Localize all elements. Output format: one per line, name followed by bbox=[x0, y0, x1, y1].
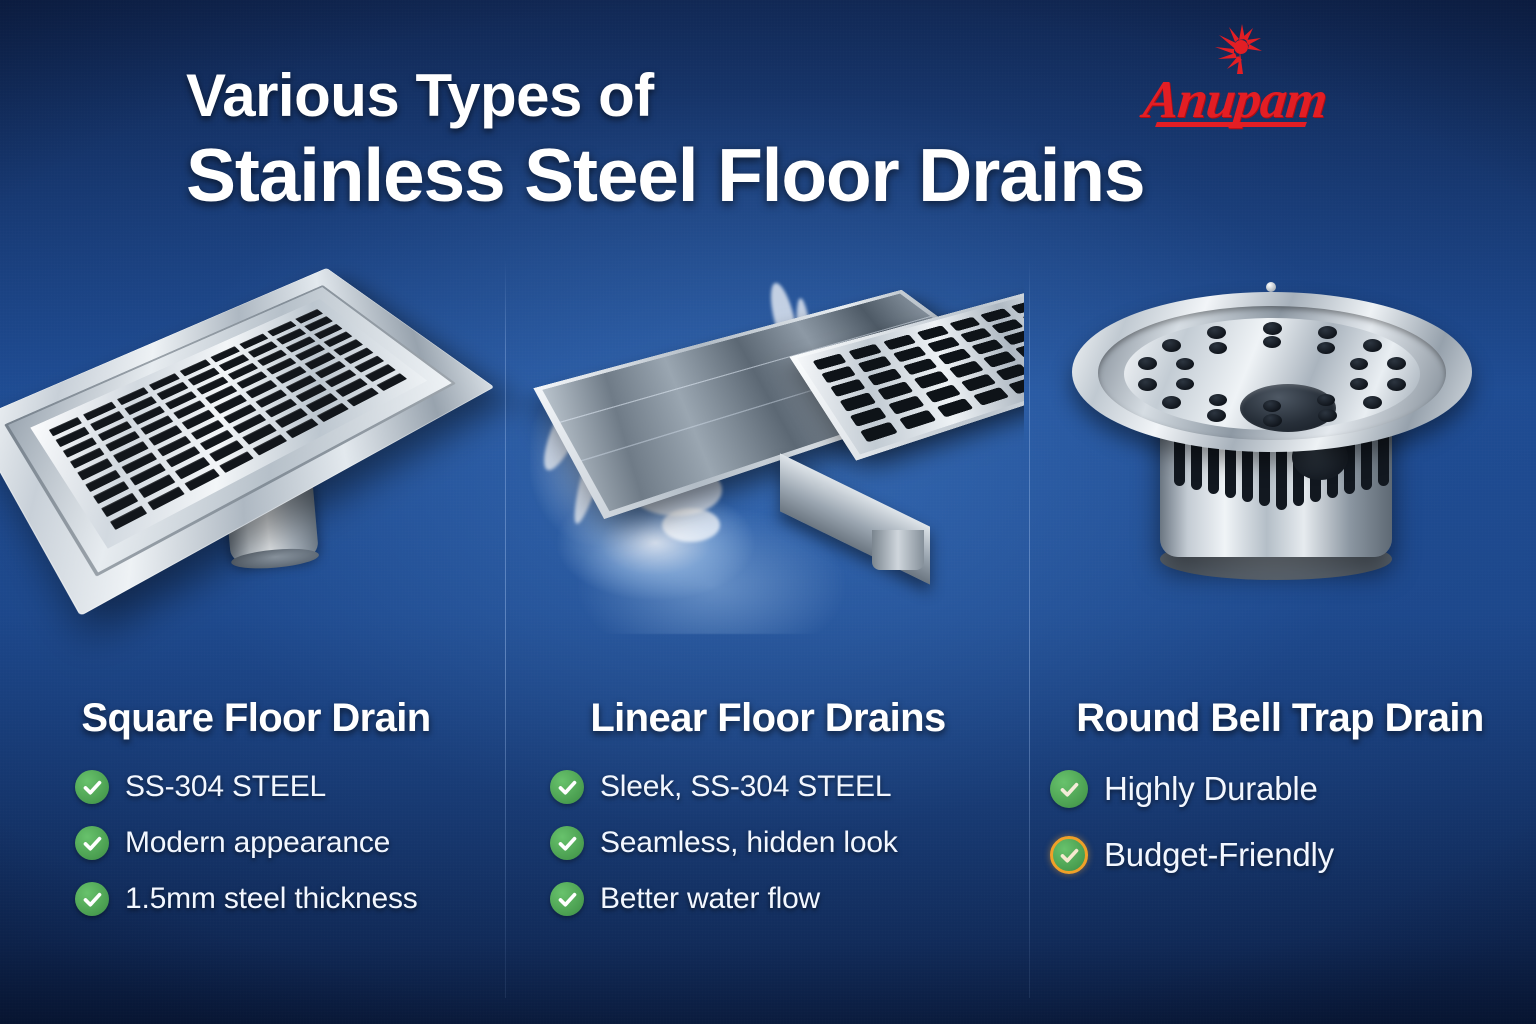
check-circle-icon bbox=[550, 770, 584, 804]
list-item: Modern appearance bbox=[75, 826, 512, 860]
feature-text: Modern appearance bbox=[125, 826, 390, 860]
list-item: 1.5mm steel thickness bbox=[75, 882, 512, 916]
feature-text: Highly Durable bbox=[1104, 770, 1318, 808]
column-divider-1 bbox=[505, 258, 506, 998]
feature-text: 1.5mm steel thickness bbox=[125, 882, 418, 916]
product-columns: Square Floor Drain SS-304 STEEL Modern a… bbox=[0, 258, 1536, 998]
feature-text: Seamless, hidden look bbox=[600, 826, 898, 860]
column-heading-1: Square Floor Drain bbox=[0, 696, 512, 741]
list-item: Budget-Friendly bbox=[1050, 836, 1536, 874]
list-item: Seamless, hidden look bbox=[550, 826, 1024, 860]
linear-drain-outlet bbox=[872, 530, 924, 570]
feature-list-1: SS-304 STEEL Modern appearance 1.5mm ste… bbox=[0, 770, 512, 916]
bell-trap-center-hole bbox=[1240, 384, 1336, 432]
check-circle-icon bbox=[75, 826, 109, 860]
brand-logo[interactable]: Anupam bbox=[1120, 22, 1350, 134]
column-heading-3: Round Bell Trap Drain bbox=[1024, 696, 1536, 741]
linear-floor-drains-photo bbox=[512, 258, 1024, 658]
title-block: Various Types of Stainless Steel Floor D… bbox=[186, 66, 1144, 215]
list-item: SS-304 STEEL bbox=[75, 770, 512, 804]
check-circle-icon bbox=[1050, 770, 1088, 808]
feature-list-2: Sleek, SS-304 STEEL Seamless, hidden loo… bbox=[512, 770, 1024, 916]
title-line-1: Various Types of bbox=[186, 66, 1144, 126]
infographic-canvas: Various Types of Stainless Steel Floor D… bbox=[0, 0, 1536, 1024]
column-square-floor-drain: Square Floor Drain SS-304 STEEL Modern a… bbox=[0, 258, 512, 998]
logo-underline bbox=[1155, 122, 1307, 127]
column-divider-2 bbox=[1029, 258, 1030, 998]
sunburst-icon bbox=[1212, 22, 1266, 76]
feature-list-3: Highly Durable Budget-Friendly bbox=[1024, 770, 1536, 874]
title-line-2: Stainless Steel Floor Drains bbox=[186, 136, 1144, 215]
column-heading-2: Linear Floor Drains bbox=[512, 696, 1024, 741]
feature-text: Sleek, SS-304 STEEL bbox=[600, 770, 891, 804]
list-item: Sleek, SS-304 STEEL bbox=[550, 770, 1024, 804]
logo-wordmark: Anupam bbox=[1117, 70, 1353, 130]
feature-text: Budget-Friendly bbox=[1104, 836, 1334, 874]
square-floor-drain-photo bbox=[0, 258, 512, 658]
check-circle-icon bbox=[75, 770, 109, 804]
check-circle-icon bbox=[75, 882, 109, 916]
check-circle-icon bbox=[1050, 836, 1088, 874]
column-linear-floor-drains: Linear Floor Drains Sleek, SS-304 STEEL … bbox=[512, 258, 1024, 998]
column-round-bell-trap-drain: Round Bell Trap Drain Highly Durable Bud… bbox=[1024, 258, 1536, 998]
feature-text: Better water flow bbox=[600, 882, 820, 916]
check-circle-icon bbox=[550, 882, 584, 916]
check-circle-icon bbox=[550, 826, 584, 860]
bell-trap-perforated-plate bbox=[1124, 318, 1420, 430]
bell-trap-pin bbox=[1266, 282, 1276, 292]
round-bell-trap-drain-photo bbox=[1024, 258, 1536, 658]
list-item: Highly Durable bbox=[1050, 770, 1536, 808]
feature-text: SS-304 STEEL bbox=[125, 770, 326, 804]
list-item: Better water flow bbox=[550, 882, 1024, 916]
